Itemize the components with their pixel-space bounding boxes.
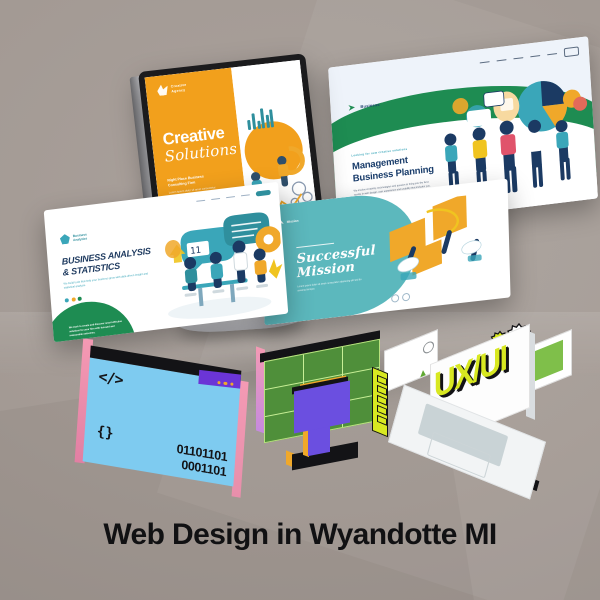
social-dots[interactable]	[65, 297, 82, 303]
nav-cta-button[interactable]	[256, 190, 271, 197]
arrow-icon	[348, 102, 357, 112]
code-brace-icon: {}	[96, 423, 114, 442]
toolbar-palette[interactable]	[372, 367, 388, 437]
tool-icon[interactable]	[377, 405, 387, 416]
page-title: Web Design in Wyandotte MI	[0, 518, 600, 552]
nav-item[interactable]	[211, 198, 220, 201]
nav-item[interactable]	[497, 59, 507, 62]
nav-item[interactable]	[513, 57, 523, 60]
code-tag-icon: </>	[98, 367, 123, 389]
business-analysis-logo-label: Business Analytics	[73, 232, 88, 242]
tool-icon[interactable]	[377, 415, 387, 426]
tool-icon[interactable]	[377, 385, 387, 396]
nav-item[interactable]	[241, 194, 250, 197]
mission-illustration	[381, 191, 507, 306]
nav-item[interactable]	[530, 55, 540, 58]
window-dot[interactable]	[217, 381, 221, 385]
management-logo-label: Business	[360, 102, 380, 109]
dot[interactable]	[78, 297, 82, 301]
dot[interactable]	[391, 294, 399, 303]
mission-logo-label: Mission	[287, 219, 299, 224]
leaf-icon	[157, 84, 169, 96]
tool-icon[interactable]	[377, 375, 387, 386]
svg-text:11: 11	[190, 246, 202, 257]
window-dot[interactable]	[224, 382, 228, 386]
business-analysis-illustration: 11	[149, 204, 287, 330]
poster-canvas: Business Looking for new creative soluti…	[0, 0, 600, 600]
nav-item[interactable]	[547, 53, 557, 56]
creative-logo[interactable]: Creative Agency	[157, 78, 225, 97]
business-analysis-logo[interactable]: Business Analytics	[60, 231, 88, 244]
code-window[interactable]: </> {} 01101101 0001101	[83, 346, 242, 487]
dot[interactable]	[402, 293, 410, 302]
pentagon-icon	[60, 234, 71, 245]
window-control-dots[interactable]	[217, 381, 233, 386]
nav-item[interactable]	[480, 61, 490, 64]
isometric-monitor[interactable]	[248, 342, 388, 476]
sun-icon	[423, 340, 434, 355]
isometric-laptop[interactable]: UX/UI	[378, 318, 568, 484]
nav-item[interactable]	[226, 196, 235, 199]
creative-logo-label: Creative Agency	[171, 83, 188, 94]
dot[interactable]	[65, 298, 69, 302]
dot[interactable]	[71, 297, 75, 301]
nav-cta-button[interactable]	[564, 46, 579, 57]
business-analysis-nav[interactable]	[196, 190, 271, 204]
nav-item[interactable]	[196, 199, 205, 202]
tool-icon[interactable]	[377, 395, 387, 406]
window-dot[interactable]	[230, 382, 234, 386]
